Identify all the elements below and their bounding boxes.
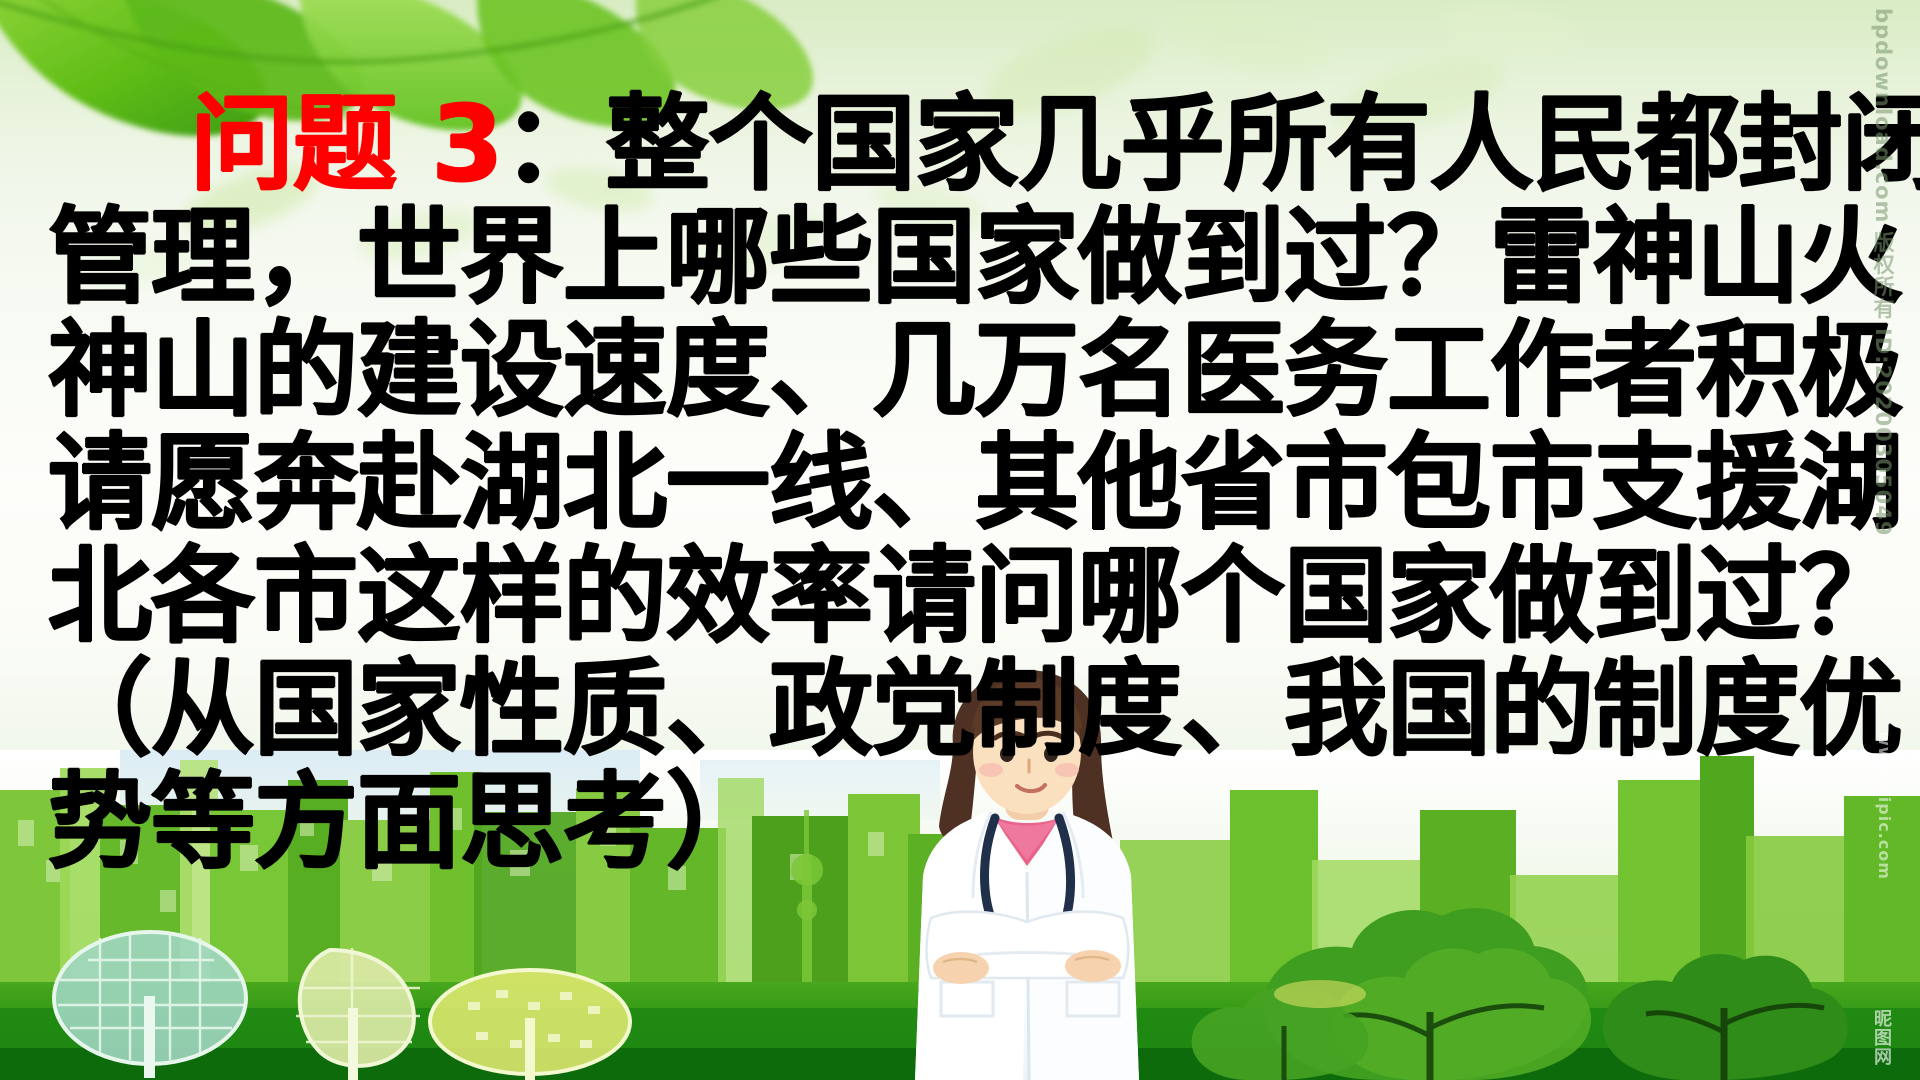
text-line-1: 问题 3：整个国家几乎所有人民都封闭 <box>0 88 1870 201</box>
watermark-site-name: 昵图网 <box>1868 1009 1894 1066</box>
watermark-url: www.nipic.com <box>1875 731 1894 880</box>
text-line-6: （从国家性质、政党制度、我国的制度优 <box>0 653 1870 766</box>
text-line-7: 势等方面思考） <box>0 766 1870 879</box>
slide-text-block: 问题 3：整个国家几乎所有人民都封闭 管理，世界上哪些国家做到过？雷神山火 神山… <box>0 88 1870 879</box>
text-line-5: 北各市这样的效率请问哪个国家做到过？ <box>0 540 1870 653</box>
watermark-top-right: bpdownload.com 版权所有 ID:20200305049 <box>1868 8 1898 536</box>
question-number-label: 问题 3 <box>190 83 503 205</box>
presentation-slide: bpdownload.com 版权所有 ID:20200305049 www.n… <box>0 0 1920 1080</box>
text-line-2: 管理，世界上哪些国家做到过？雷神山火 <box>0 201 1870 314</box>
text-line-1-body: ：整个国家几乎所有人民都封闭 <box>503 83 1920 205</box>
text-line-3: 神山的建设速度、几万名医务工作者积极 <box>0 314 1870 427</box>
text-line-4: 请愿奔赴湖北一线、其他省市包市支援湖 <box>0 427 1870 540</box>
